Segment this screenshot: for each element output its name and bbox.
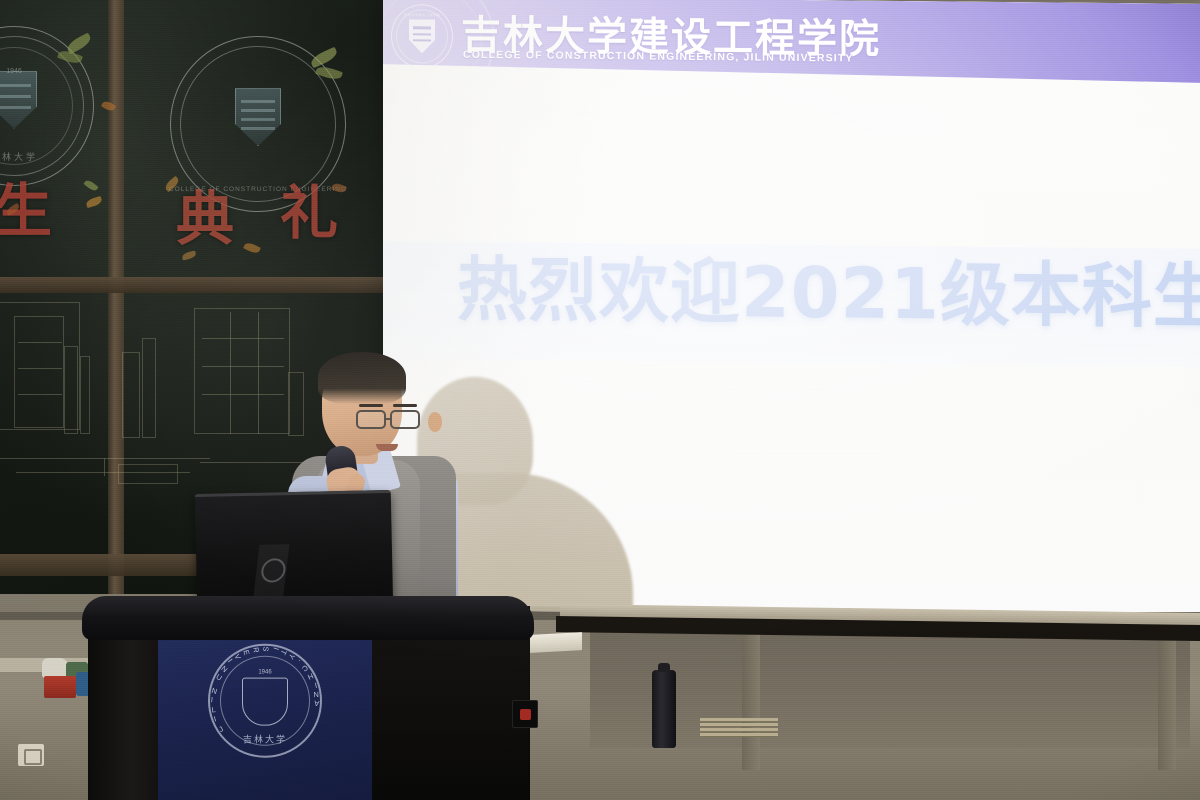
speaker-mouth bbox=[376, 444, 398, 451]
chalk-character-2: 典 bbox=[176, 190, 234, 248]
glasses-bridge bbox=[386, 418, 392, 420]
college-logo-icon: 吉林大学建设工程学院 bbox=[391, 4, 453, 69]
white-bag bbox=[42, 658, 68, 678]
speaker-eyebrow bbox=[359, 404, 383, 407]
book-stack bbox=[700, 718, 778, 740]
under-desk-area bbox=[590, 628, 1190, 748]
speaker-ear bbox=[428, 412, 442, 432]
speaker-eyebrow bbox=[393, 404, 417, 407]
glasses-icon bbox=[390, 410, 420, 429]
power-switch bbox=[512, 700, 538, 728]
lecture-hall-photo: 1946 吉林大学 COLLEGE OF CONSTRUCTION ENGINE… bbox=[0, 0, 1200, 800]
blackboard-rail-upper bbox=[0, 277, 392, 293]
red-box bbox=[44, 676, 76, 698]
podium-top-surface bbox=[82, 596, 534, 640]
dell-logo-icon bbox=[253, 544, 289, 597]
glasses-icon bbox=[356, 410, 386, 429]
logo-micro-text: 吉林大学建设工程学院 bbox=[404, 12, 441, 17]
banner-english-title: COLLEGE OF CONSTRUCTION ENGINEERING, JIL… bbox=[463, 49, 854, 65]
podium-left-side bbox=[88, 618, 160, 800]
desk-leg bbox=[1158, 630, 1176, 770]
emblem-chinese-text: 吉林大学 bbox=[243, 733, 287, 746]
slide-headline-text: 热烈欢迎2021级本科生 bbox=[457, 255, 1200, 332]
laptop bbox=[195, 490, 393, 612]
chalk-seal-chinese: 吉林大学 bbox=[0, 150, 38, 163]
projection-screen: 吉林大学建设工程学院 吉林大学建设工程学院 COLLEGE OF CONSTRU… bbox=[383, 0, 1200, 630]
speaker-hair bbox=[318, 352, 406, 404]
wall-outlet bbox=[18, 744, 44, 766]
chalk-character-3: 礼 bbox=[280, 184, 338, 242]
thermos-bottle bbox=[652, 670, 676, 748]
jilin-university-emblem: 1946 J I L I N U N I V E R S I T Y · C H bbox=[208, 644, 322, 758]
desk-leg bbox=[742, 630, 760, 770]
